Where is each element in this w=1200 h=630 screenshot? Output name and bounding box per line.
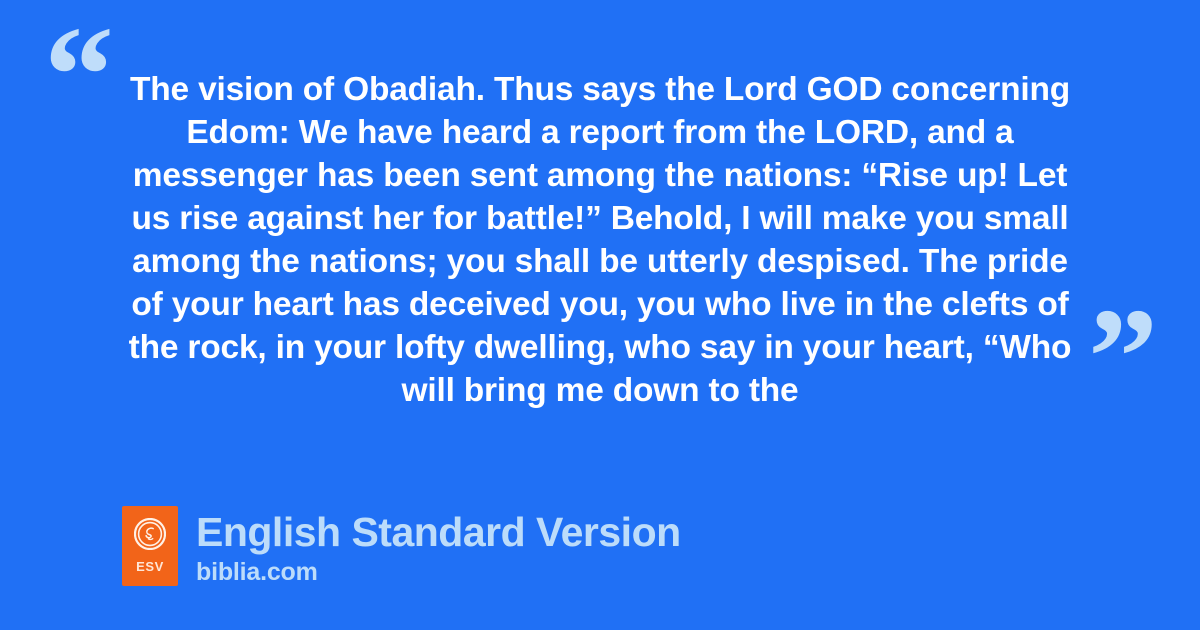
quote-line: Edom: We have heard a report from the LO… xyxy=(110,111,1090,154)
quote-line: will bring me down to the xyxy=(110,369,1090,412)
quote-line: among the nations; you shall be utterly … xyxy=(110,240,1090,283)
site-url-label[interactable]: biblia.com xyxy=(196,557,681,587)
closing-quote-icon: ” xyxy=(1088,288,1156,428)
attribution-footer: ESV English Standard Version biblia.com xyxy=(122,506,681,587)
esv-abbreviation-label: ESV xyxy=(122,559,178,574)
quote-line: messenger has been sent among the nation… xyxy=(110,154,1090,197)
quote-line: us rise against her for battle!” Behold,… xyxy=(110,197,1090,240)
quote-text: The vision of Obadiah. Thus says the Lor… xyxy=(110,68,1090,412)
quote-line: the rock, in your lofty dwelling, who sa… xyxy=(110,326,1090,369)
bible-version-title: English Standard Version xyxy=(196,508,681,556)
bible-verse-card: “ The vision of Obadiah. Thus says the L… xyxy=(0,0,1200,630)
esv-logo-badge: ESV xyxy=(122,506,178,586)
opening-quote-icon: “ xyxy=(44,6,112,146)
quote-section: “ The vision of Obadiah. Thus says the L… xyxy=(0,0,1200,460)
seal-emblem-icon xyxy=(134,518,166,550)
quote-line: The vision of Obadiah. Thus says the Lor… xyxy=(110,68,1090,111)
quote-line: of your heart has deceived you, you who … xyxy=(110,283,1090,326)
footer-text-group: English Standard Version biblia.com xyxy=(196,506,681,587)
